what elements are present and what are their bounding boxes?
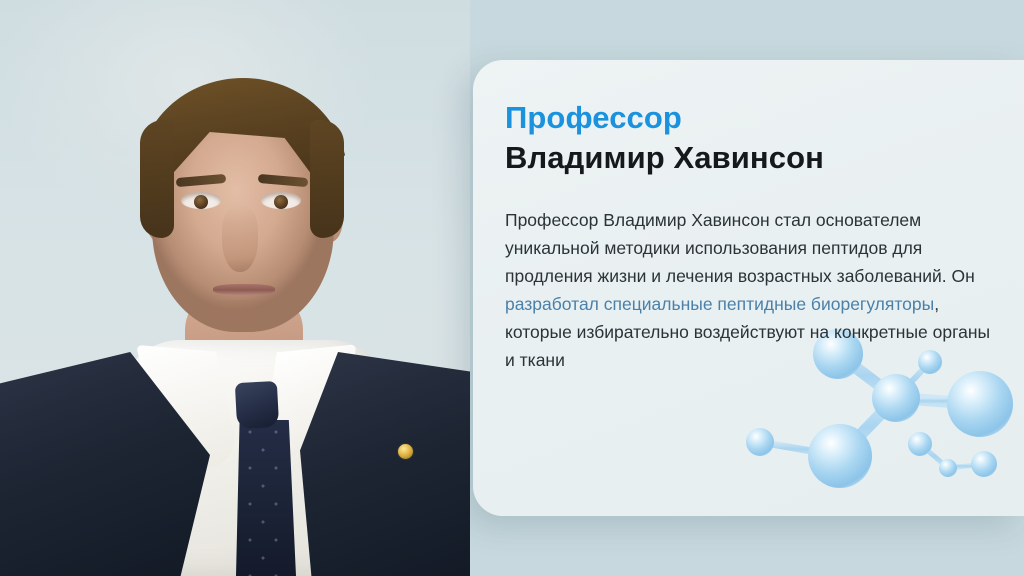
- card-body-highlight: разработал специальные пептидные биорегу…: [505, 294, 934, 314]
- slide-root: Профессор Владимир Хавинсон Профессор Вл…: [0, 0, 1024, 576]
- molecule-atom: [971, 451, 997, 477]
- portrait-lapel-pin: [397, 443, 414, 460]
- card-body-paragraph: Профессор Владимир Хавинсон стал основат…: [505, 206, 995, 374]
- content-card: Профессор Владимир Хавинсон Профессор Вл…: [473, 60, 1024, 516]
- card-text-content: Профессор Владимир Хавинсон Профессор Вл…: [473, 60, 1024, 374]
- portrait-iris-left: [194, 195, 208, 209]
- molecule-bond: [760, 442, 840, 456]
- portrait-photo: [0, 0, 470, 576]
- molecule-bond: [920, 444, 948, 468]
- molecule-atom: [746, 428, 774, 456]
- portrait-eye-right: [261, 192, 301, 209]
- portrait-eye-left: [181, 192, 221, 209]
- portrait-nose: [222, 206, 258, 272]
- portrait-hair-side-left: [140, 120, 174, 238]
- molecule-bond: [840, 398, 896, 456]
- molecule-bond: [896, 398, 980, 404]
- portrait-mouth: [213, 284, 275, 295]
- card-body-part1: Профессор Владимир Хавинсон стал основат…: [505, 210, 975, 286]
- portrait-hair-side-right: [310, 120, 344, 238]
- portrait-chin-shadow: [200, 300, 286, 334]
- page-title: Владимир Хавинсон: [505, 140, 1024, 177]
- portrait-iris-right: [274, 195, 288, 209]
- molecule-atom: [808, 424, 872, 488]
- molecule-atom: [872, 374, 920, 422]
- molecule-bond: [948, 464, 984, 468]
- portrait-necktie-body: [236, 420, 296, 576]
- molecule-atom: [947, 371, 1013, 437]
- molecule-atom: [908, 432, 932, 456]
- page-title-eyebrow: Профессор: [505, 100, 1024, 137]
- portrait-necktie-knot: [235, 381, 279, 429]
- molecule-atom: [939, 459, 957, 477]
- portrait-jacket-right: [300, 352, 470, 576]
